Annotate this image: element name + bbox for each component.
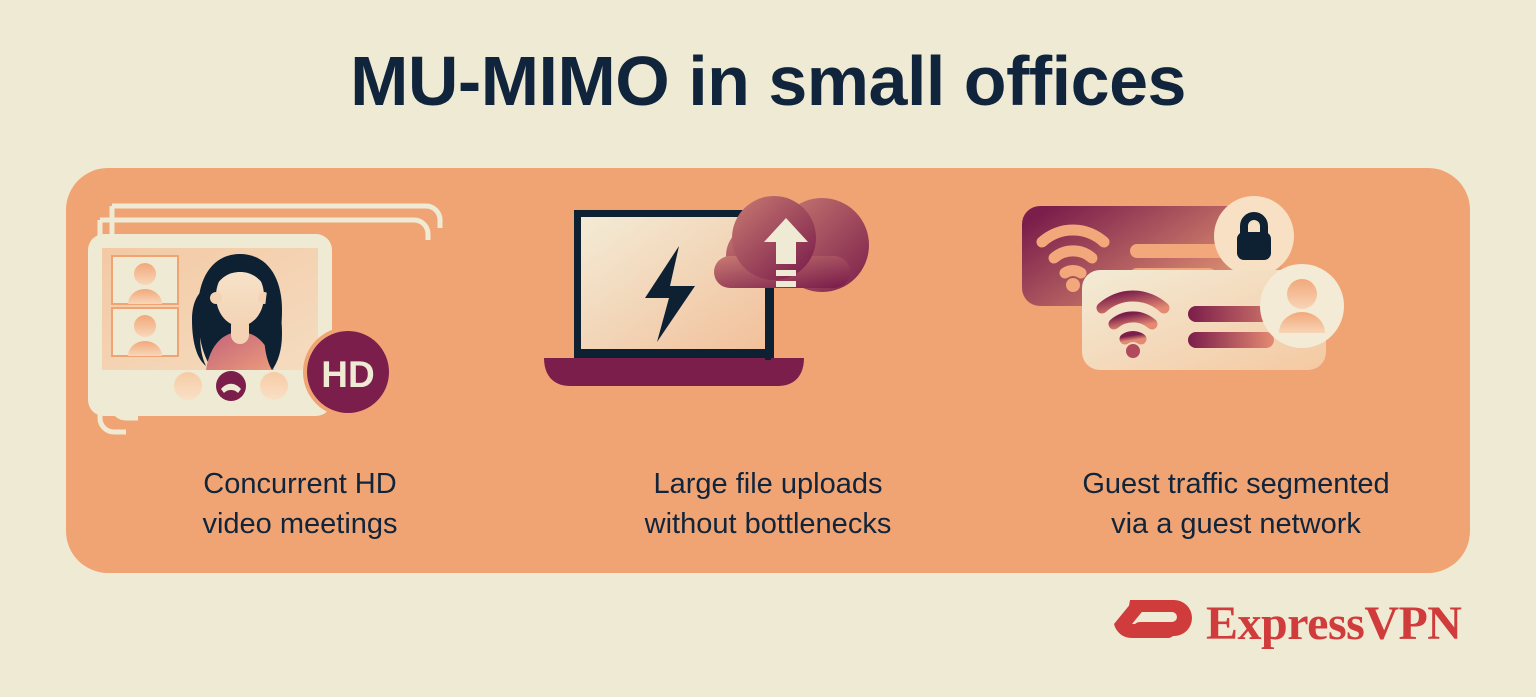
laptop-cloud-upload-icon — [534, 188, 1002, 458]
feature-item-guest-network: Guest traffic segmented via a guest netw… — [1002, 168, 1470, 573]
hd-badge-label: HD — [321, 354, 374, 395]
expressvpn-logo: ExpressVPN — [1110, 592, 1440, 656]
brand-wordmark: ExpressVPN — [1206, 594, 1461, 654]
feature-caption-guest-network: Guest traffic segmented via a guest netw… — [1002, 464, 1470, 544]
caption-line-1: Concurrent HD — [203, 468, 396, 500]
caption-line-1: Large file uploads — [654, 468, 883, 500]
page-title: MU-MIMO in small offices — [0, 46, 1536, 116]
caption-line-2: without bottlenecks — [645, 508, 892, 540]
feature-panel: HD Concurrent HD video meetings — [66, 168, 1470, 573]
feature-item-video-meetings: HD Concurrent HD video meetings — [66, 168, 534, 573]
feature-caption-file-uploads: Large file uploads without bottlenecks — [534, 464, 1002, 544]
caption-line-1: Guest traffic segmented — [1082, 468, 1389, 500]
feature-caption-video-meetings: Concurrent HD video meetings — [66, 464, 534, 544]
expressvpn-e-mark — [1110, 594, 1202, 654]
caption-line-2: video meetings — [202, 508, 397, 540]
feature-item-file-uploads: Large file uploads without bottlenecks — [534, 168, 1002, 573]
caption-line-2: via a guest network — [1111, 508, 1361, 540]
infographic-root: MU-MIMO in small offices — [0, 0, 1536, 697]
guest-network-icon — [1002, 188, 1470, 458]
video-meeting-icon: HD — [66, 188, 534, 458]
